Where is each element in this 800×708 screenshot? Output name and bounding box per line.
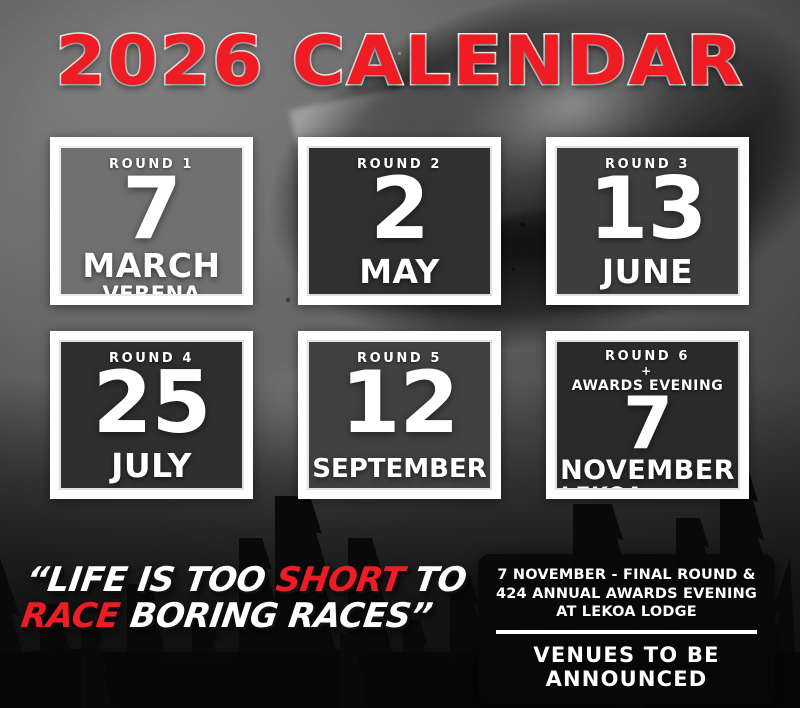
round-venue: VERENA (103, 283, 201, 296)
round-label: ROUND 6 + (605, 349, 690, 378)
round-day: 2 (370, 170, 429, 249)
round-card-5[interactable]: ROUND 5 12 SEPTEMBER (298, 331, 501, 499)
final-round-line3: AT LEKOA LODGE (492, 603, 761, 622)
round-month: JULY (111, 449, 192, 482)
page-title: 2026 CALENDAR (56, 22, 745, 101)
tagline-line1-part1: “LIFE IS TOO (24, 560, 279, 600)
tagline-line2-highlight: RACE (19, 596, 122, 636)
round-label-text: ROUND 6 (605, 349, 690, 364)
divider (496, 630, 757, 634)
poster-title-area: 2026 CALENDAR (0, 22, 800, 101)
venues-line2: ANNOUNCED (492, 667, 761, 691)
tagline-line1-highlight: SHORT (274, 560, 407, 600)
round-venue: LEKOA LODGE (561, 485, 734, 490)
tagline-line2-part2: BORING RACES” (116, 596, 434, 636)
round-month: MAY (359, 255, 440, 288)
calendar-poster: 2026 CALENDAR ROUND 1 7 MARCH VERENA ROU… (0, 0, 800, 708)
tagline-line1-part2: TO (401, 560, 469, 600)
round-day: 12 (341, 364, 459, 443)
round-day: 7 (623, 390, 672, 456)
round-card-6[interactable]: ROUND 6 + AWARDS EVENING 7 NOVEMBER LEKO… (546, 331, 749, 499)
round-month: SEPTEMBER (312, 456, 487, 482)
plus-symbol: + (605, 365, 690, 377)
round-card-3[interactable]: ROUND 3 13 JUNE (546, 137, 749, 305)
venues-line1: VENUES TO BE (492, 643, 761, 667)
round-month: NOVEMBER (560, 457, 735, 484)
tagline-line2: RACE BORING RACES” (19, 598, 464, 634)
round-month: JUNE (602, 255, 693, 288)
round-card-2[interactable]: ROUND 2 2 MAY (298, 137, 501, 305)
final-round-details: 7 NOVEMBER - FINAL ROUND & 424 ANNUAL AW… (492, 566, 761, 622)
round-card-1[interactable]: ROUND 1 7 MARCH VERENA (50, 137, 253, 305)
round-day: 7 (122, 170, 181, 249)
final-round-line2: 424 ANNUAL AWARDS EVENING (492, 585, 761, 604)
venues-info-box: 7 NOVEMBER - FINAL ROUND & 424 ANNUAL AW… (478, 554, 775, 705)
round-month: MARCH (82, 249, 220, 282)
venues-announcement: VENUES TO BE ANNOUNCED (492, 643, 761, 692)
round-day: 13 (589, 170, 707, 249)
rounds-grid: ROUND 1 7 MARCH VERENA ROUND 2 2 MAY ROU… (50, 137, 755, 499)
final-round-line1: 7 NOVEMBER - FINAL ROUND & (492, 566, 761, 585)
round-day: 25 (93, 364, 211, 443)
round-card-4[interactable]: ROUND 4 25 JULY (50, 331, 253, 499)
tagline-quote: “LIFE IS TOO SHORT TO RACE BORING RACES” (19, 562, 469, 634)
